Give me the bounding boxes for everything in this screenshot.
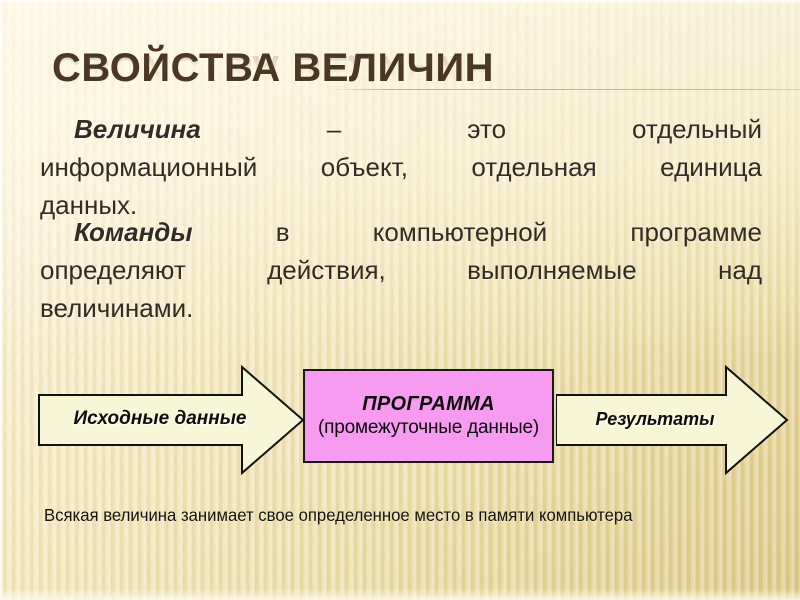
paragraph-2-line-1: Команды в компьютерной программе: [40, 213, 762, 251]
background-bottom-edge-highlight: [0, 588, 800, 600]
program-box-subtitle: (промежуточные данные): [318, 417, 539, 439]
program-box: ПРОГРАММА (промежуточные данные): [303, 369, 554, 463]
paragraph-1-line-1: Величина – это отдельный: [40, 110, 762, 148]
slide: СВОЙСТВА ВЕЛИЧИН СВОЙСТВА ВЕЛИЧИН Величи…: [0, 0, 800, 600]
title-underline-rule: [330, 89, 800, 90]
paragraph-2-line-2: определяют действия, выполняемые над: [40, 251, 762, 289]
data-flow-diagram: Исходные данные ПРОГРАММА (промежуточные…: [0, 360, 800, 480]
paragraph-definition-velichina: Величина – это отдельный информационный …: [40, 110, 762, 224]
term-komandy: Команды: [74, 217, 193, 247]
background-top-edge-highlight: [0, 0, 800, 4]
slide-footer-caption: Всякая величина занимает свое определенн…: [44, 505, 741, 526]
background-left-edge-highlight: [0, 0, 4, 600]
slide-title: СВОЙСТВА ВЕЛИЧИН: [52, 48, 752, 88]
paragraph-2-line-1-rest: в компьютерной программе: [193, 217, 762, 247]
output-arrow-label: Результаты: [580, 409, 730, 430]
program-box-title: ПРОГРАММА: [362, 393, 495, 416]
paragraph-1-line-2: информационный объект, отдельная единица: [40, 148, 762, 186]
paragraph-2-line-3: величинами.: [40, 289, 762, 327]
paragraph-definition-komandy: Команды в компьютерной программе определ…: [40, 213, 762, 327]
paragraph-1-line-1-rest: – это отдельный: [201, 114, 762, 144]
term-velichina: Величина: [74, 114, 201, 144]
input-arrow-label: Исходные данные: [65, 408, 255, 430]
